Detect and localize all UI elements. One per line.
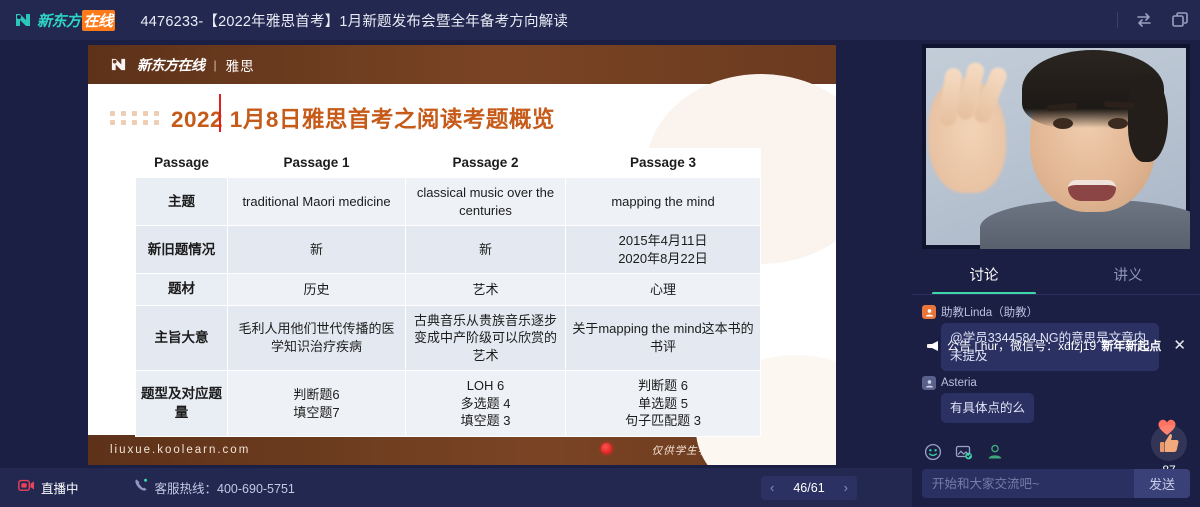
video-person-hair-side (1128, 74, 1168, 162)
table-row: 主题 traditional Maori medicine classical … (136, 178, 761, 226)
table-cell: 2015年4月11日 2020年8月22日 (566, 226, 761, 274)
table-header-row: Passage Passage 1 Passage 2 Passage 3 (136, 149, 761, 178)
avatar (922, 376, 936, 390)
table-header-cell: Passage 3 (566, 149, 761, 178)
passage-overview-table: Passage Passage 1 Passage 2 Passage 3 主题… (135, 148, 761, 437)
slide-title-text: 2022 1月8日雅思首考之阅读考题概览 (171, 107, 555, 132)
table-cell: 新 (228, 226, 406, 274)
chat-toolbar (912, 439, 1200, 465)
slide-subject: 雅思 (226, 55, 255, 75)
table-cell: 判断题6 填空题7 (228, 371, 406, 437)
support-hotline-label: 客服热线：400-690-5751 (155, 478, 295, 497)
slide-body: 2022 1月8日雅思首考之阅读考题概览 Passage Passage 1 P… (88, 84, 836, 435)
bottom-bar: 直播中 客服热线：400-690-5751 ‹ 46/61 › (0, 468, 912, 507)
image-icon[interactable] (955, 443, 973, 461)
row-label: 新旧题情况 (136, 226, 228, 274)
table-cell: LOH 6 多选题 4 填空题 3 (406, 371, 566, 437)
decor-dots (110, 111, 161, 125)
prev-slide-button[interactable]: ‹ (770, 480, 774, 495)
table-cell: traditional Maori medicine (228, 178, 406, 226)
windowed-icon[interactable] (1170, 10, 1190, 30)
teacher-video[interactable] (922, 44, 1190, 249)
panel-tabs: 讨论 讲义 (912, 253, 1200, 295)
brand-logo-primary: 新东方 (37, 10, 81, 31)
table-header-cell: Passage (136, 149, 228, 178)
chat-message-header: Asteria (922, 376, 1190, 390)
chat-input[interactable] (922, 469, 1134, 498)
emoji-icon[interactable] (924, 443, 942, 461)
video-person-eye-left (1053, 118, 1073, 129)
table-header-cell: Passage 2 (406, 149, 566, 178)
slide-title-row: 2022 1月8日雅思首考之阅读考题概览 (88, 84, 836, 144)
table-row: 新旧题情况 新 新 2015年4月11日 2020年8月22日 (136, 226, 761, 274)
slide-header-separator: | (214, 58, 217, 72)
slide-footer-site: liuxue.koolearn.com (110, 444, 250, 456)
live-camera-icon (18, 479, 35, 497)
table-row: 主旨大意 毛利人用他们世代传播的医学知识治疗疾病 古典音乐从贵族音乐逐步变成中产… (136, 305, 761, 371)
tab-handouts[interactable]: 讲义 (1056, 253, 1200, 295)
swap-icon[interactable] (1134, 10, 1154, 30)
table-row: 题材 历史 艺术 心理 (136, 274, 761, 305)
megaphone-icon (926, 339, 942, 353)
announcement-text: 公告 | hur，微信号：xdfzj19 (947, 337, 1096, 354)
top-bar: 新东方在线 4476233-【2022年雅思首考】1月新题发布会暨全年备考方向解… (0, 0, 1200, 40)
chat-user-name: 助教Linda（助教） (941, 304, 1038, 320)
video-person-eye-right (1108, 118, 1128, 129)
chat-message-text: 有具体点的么 (941, 393, 1034, 423)
slide-page-indicator: 46/61 (793, 481, 824, 495)
table-cell: classical music over the centuries (406, 178, 566, 226)
live-class-app: 新东方在线 4476233-【2022年雅思首考】1月新题发布会暨全年备考方向解… (0, 0, 1200, 507)
slide-brand-primary: 新东方 (137, 55, 178, 75)
at-user-icon[interactable] (986, 443, 1004, 461)
live-status: 直播中 (18, 478, 79, 497)
table-cell: mapping the mind (566, 178, 761, 226)
table-cell: 毛利人用他们世代传播的医学知识治疗疾病 (228, 305, 406, 371)
laser-pointer-dot (601, 443, 612, 454)
table-cell: 判断题 6 单选题 5 句子匹配题 3 (566, 371, 761, 437)
slide-pagination[interactable]: ‹ 46/61 › (761, 476, 857, 500)
table-cell: 古典音乐从贵族音乐逐步变成中产阶级可以欣赏的艺术 (406, 305, 566, 371)
table-cell: 历史 (228, 274, 406, 305)
table-cell: 心理 (566, 274, 761, 305)
top-bar-actions (1117, 0, 1190, 40)
phone-icon (133, 477, 149, 498)
slide-brand-text: 新东方在线 (137, 55, 205, 75)
brand-logo-text: 新东方在线 (37, 10, 115, 31)
slide-title: 2022 1月8日雅思首考之阅读考题概览 (171, 102, 555, 134)
next-slide-button[interactable]: › (844, 480, 848, 495)
send-button[interactable]: 发送 (1134, 469, 1190, 498)
row-label: 主旨大意 (136, 305, 228, 371)
table-row: 题型及对应题量 判断题6 填空题7 LOH 6 多选题 4 填空题 3 判断题 … (136, 371, 761, 437)
chat-user-name: Asteria (941, 377, 977, 389)
table-cell: 艺术 (406, 274, 566, 305)
brand-logo: 新东方在线 (14, 10, 115, 31)
course-title: 4476233-【2022年雅思首考】1月新题发布会暨全年备考方向解读 (141, 10, 569, 31)
slide-stage: 新东方在线 | 雅思 2022 1月8日雅思首考之阅读考题概览 (0, 40, 912, 468)
row-label: 主题 (136, 178, 228, 226)
support-hotline: 客服热线：400-690-5751 (133, 477, 295, 498)
announcement-tag: 新年新起点 (1101, 337, 1161, 354)
close-icon[interactable]: ✕ (1173, 338, 1186, 353)
live-status-label: 直播中 (41, 478, 79, 497)
brand-logo-accent: 在线 (82, 10, 115, 31)
row-label: 题型及对应题量 (136, 371, 228, 437)
presentation-slide[interactable]: 新东方在线 | 雅思 2022 1月8日雅思首考之阅读考题概览 (88, 45, 836, 465)
tabs-underline (912, 294, 1200, 295)
row-label: 题材 (136, 274, 228, 305)
tab-discussion[interactable]: 讨论 (912, 253, 1056, 295)
chat-message-header: 助教Linda（助教） (922, 304, 1190, 320)
table-header-cell: Passage 1 (228, 149, 406, 178)
announcement-banner[interactable]: 公告 | hur，微信号：xdfzj19 新年新起点 ✕ (920, 332, 1192, 359)
slide-logo-icon (110, 56, 128, 74)
video-person-mouth (1068, 180, 1116, 201)
table-cell: 关于mapping the mind这本书的书评 (566, 305, 761, 371)
table-cell: 新 (406, 226, 566, 274)
koolearn-logo-icon (14, 11, 32, 29)
right-panel: 讨论 讲义 助教Linda（助教） @学员3344584 NG的意思是文章内未提… (912, 40, 1200, 507)
chat-input-row[interactable]: 发送 (922, 469, 1190, 498)
chat-message: Asteria 有具体点的么 (922, 376, 1190, 423)
annotation-line (219, 94, 221, 132)
slide-brand-accent: 在线 (178, 55, 205, 75)
avatar (922, 305, 936, 319)
toolbar-divider (1117, 12, 1118, 28)
